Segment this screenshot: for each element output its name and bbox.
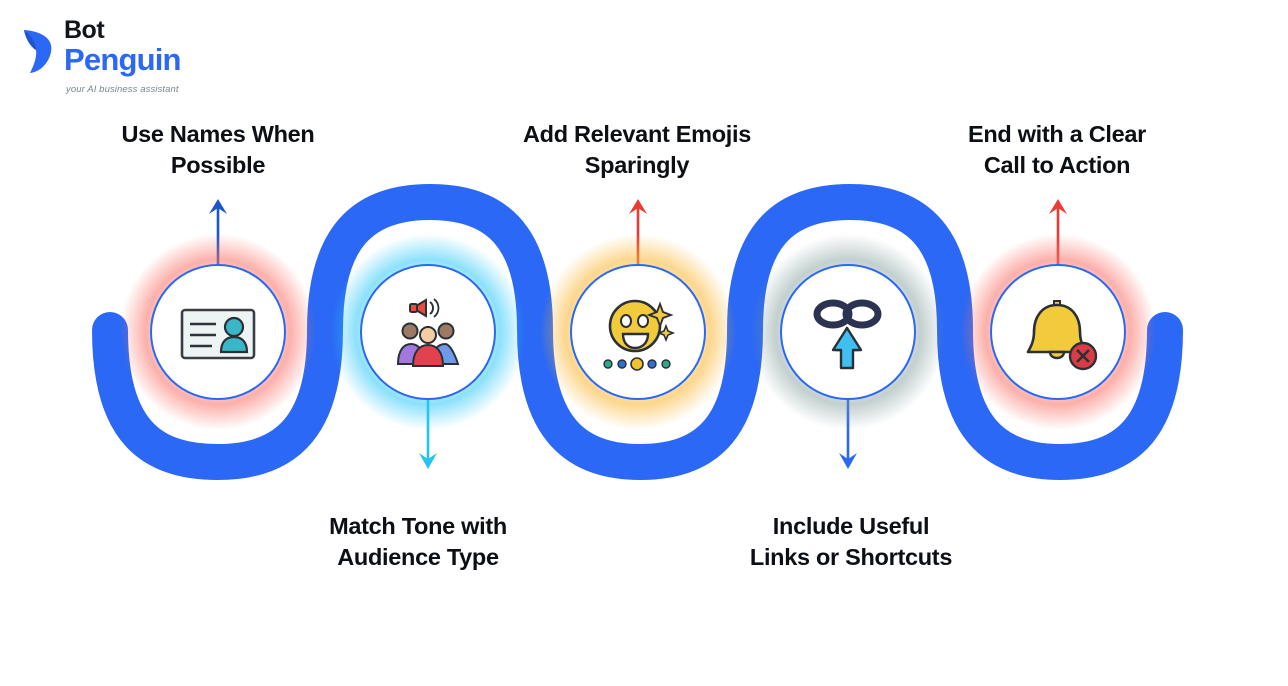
step-4-node[interactable]	[780, 264, 916, 400]
step-1-label: Use Names When Possible	[78, 119, 358, 182]
brand-logo: Bot Penguin your AI business assistant	[18, 18, 248, 88]
step-3-circle[interactable]	[570, 264, 706, 400]
chain-link-cursor-icon	[800, 284, 896, 380]
audience-group-megaphone-icon	[380, 284, 476, 380]
step-3-node[interactable]	[570, 264, 706, 400]
brand-wordmark: Bot Penguin	[64, 18, 181, 75]
step-1-circle[interactable]	[150, 264, 286, 400]
step-2-label: Match Tone with Audience Type	[278, 511, 558, 574]
sparkle-smiley-emoji-icon	[590, 284, 686, 380]
step-3-label: Add Relevant Emojis Sparingly	[497, 119, 777, 182]
step-2-node[interactable]	[360, 264, 496, 400]
brand-name-line2: Penguin	[64, 44, 181, 75]
notification-bell-blocked-icon	[1010, 284, 1106, 380]
step-5-node[interactable]	[990, 264, 1126, 400]
step-4-circle[interactable]	[780, 264, 916, 400]
step-4-label: Include Useful Links or Shortcuts	[711, 511, 991, 574]
step-5-label: End with a Clear Call to Action	[917, 119, 1197, 182]
step-1-node[interactable]	[150, 264, 286, 400]
step-5-circle[interactable]	[990, 264, 1126, 400]
step-2-circle[interactable]	[360, 264, 496, 400]
brand-tagline: your AI business assistant	[66, 84, 179, 95]
brand-name-line1: Bot	[64, 18, 181, 43]
id-card-contact-icon	[170, 284, 266, 380]
penguin-logo-icon	[18, 26, 58, 76]
infographic-canvas: Bot Penguin your AI business assistant	[0, 0, 1288, 686]
